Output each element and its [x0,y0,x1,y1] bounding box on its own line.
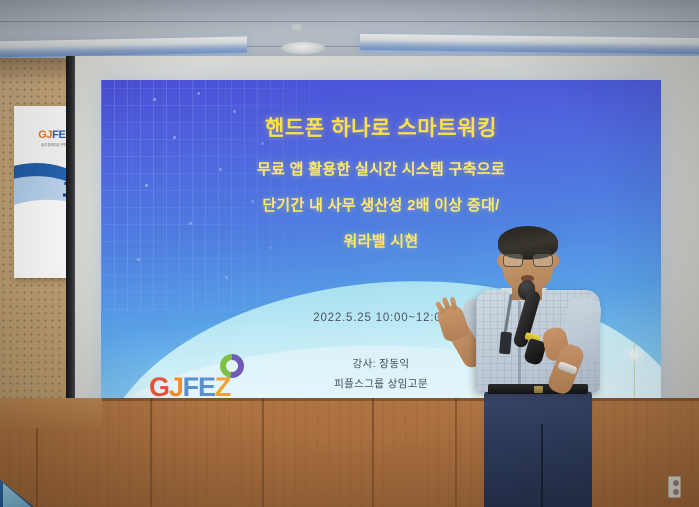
screen-left-edge [66,56,75,448]
wall-outlet [668,476,681,498]
slide-subtitle-line-2: 단기간 내 사무 생산성 2배 이상 증대/ [101,194,661,215]
gjfez-g-mark-icon [220,354,244,378]
slide-title: 핸드폰 하나로 스마트워킹 [101,112,661,142]
slide-subtitle-line-1: 무료 앱 활용한 실시간 시스템 구축으로 [101,158,661,179]
ceiling [0,0,699,64]
ceiling-light-strip-left [0,37,247,58]
smoke-detector-icon [292,24,301,30]
presenter [436,228,646,507]
wood-upper-band [0,398,102,428]
ceiling-dome-light [281,42,325,54]
glasses-icon [502,254,554,267]
ceiling-light-strip-right [360,34,699,54]
seminar-room-photo: GJFEZ 광주경제자유구역청 광 [0,0,699,507]
presenter-trousers [484,388,592,507]
